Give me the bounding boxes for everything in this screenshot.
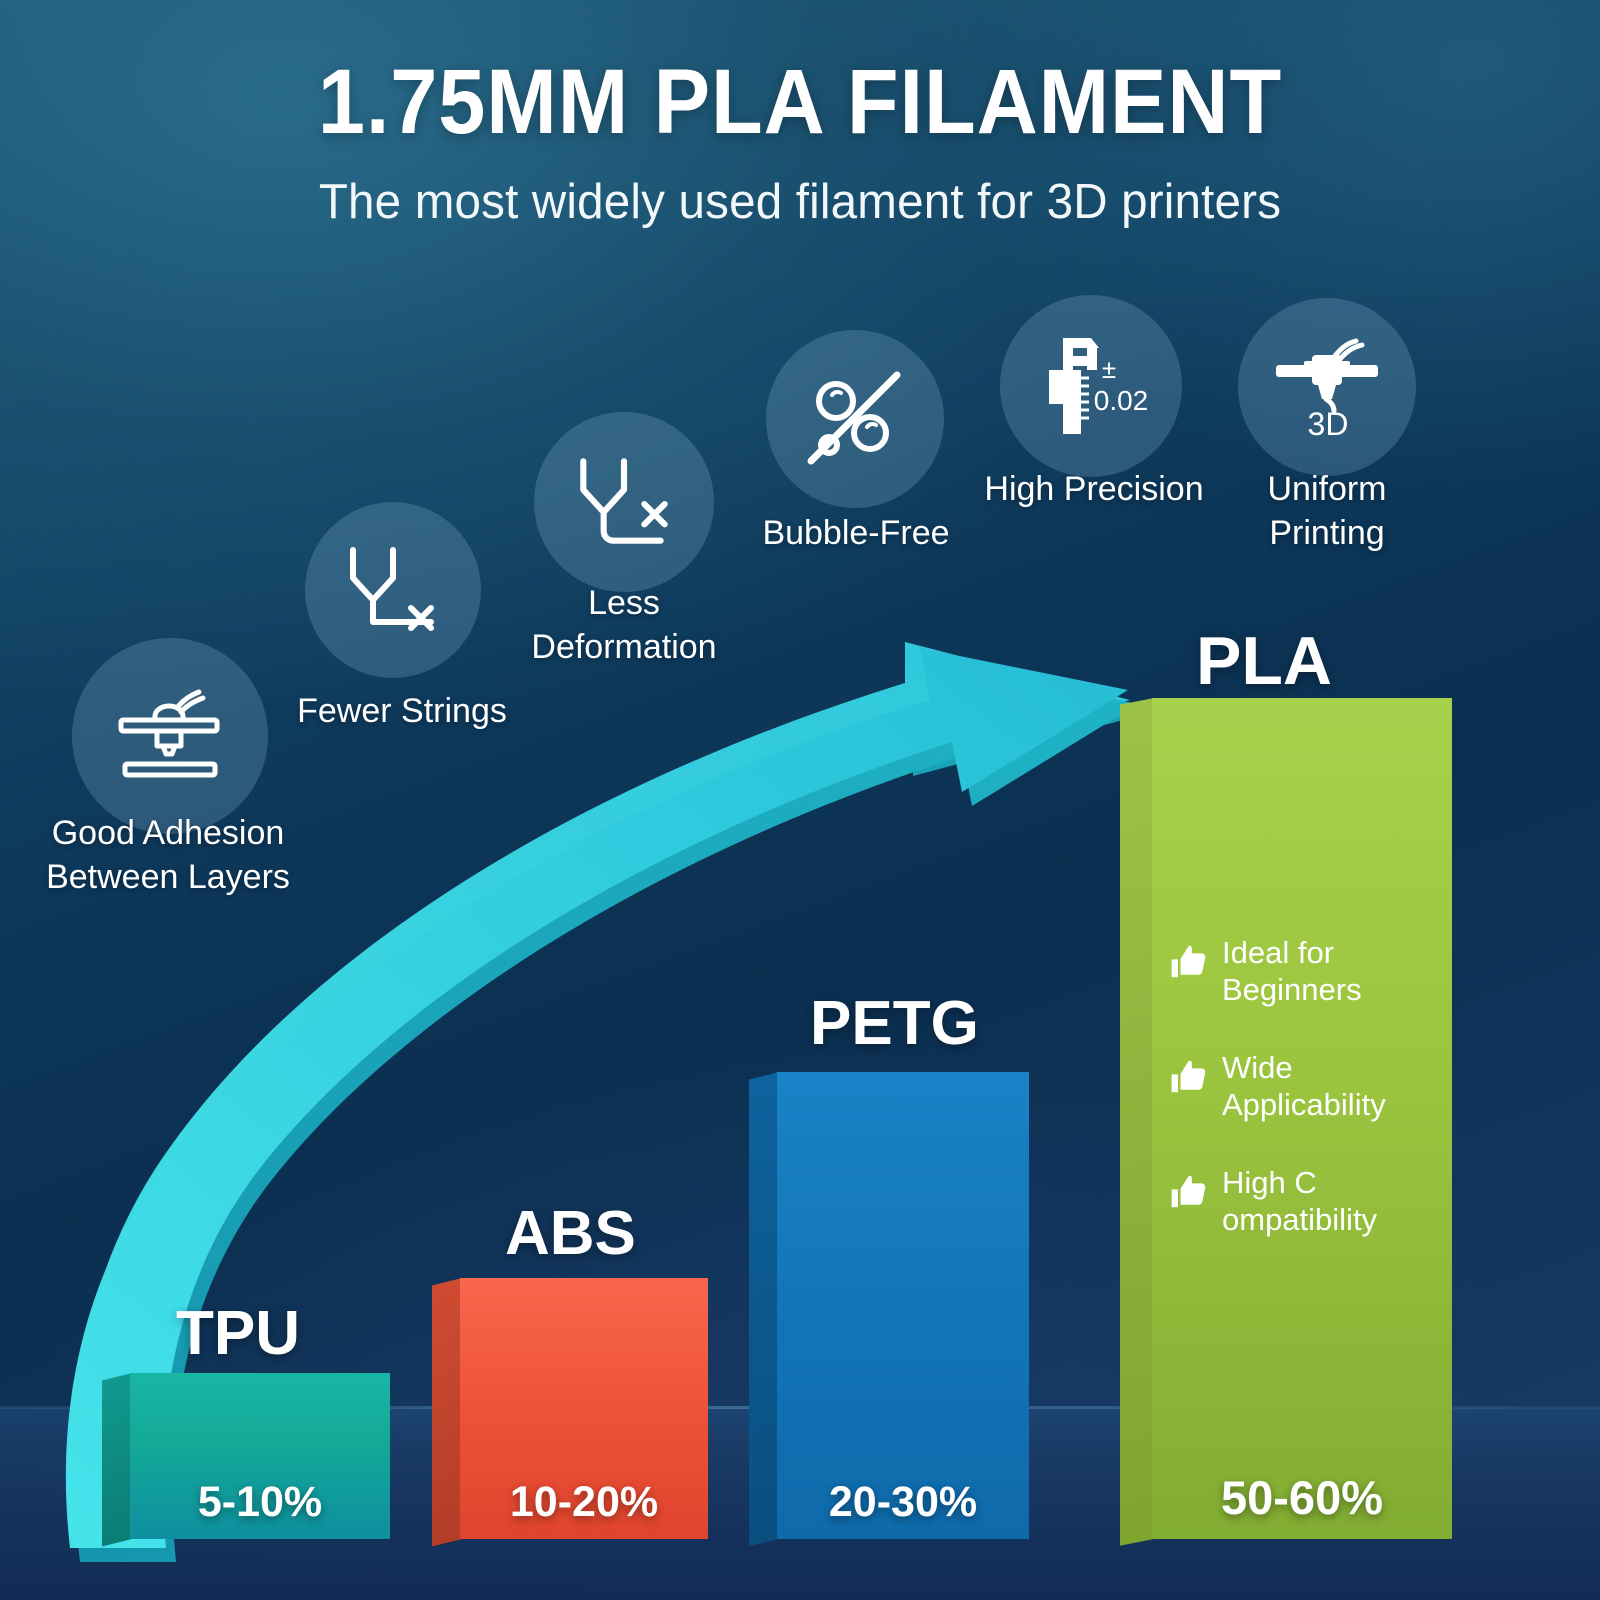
bar-tpu-side — [102, 1373, 132, 1546]
benefit-item: High C ompatibility — [1168, 1165, 1418, 1238]
page-subtitle: The most widely used filament for 3D pri… — [24, 174, 1576, 230]
caliper-value: 0.02 — [1094, 385, 1149, 416]
pla-benefits-list: Ideal for Beginners Wide Applicability H… — [1168, 935, 1418, 1280]
bar-petg-side — [749, 1072, 779, 1546]
bar-value-tpu: 5-10% — [130, 1478, 390, 1527]
benefit-label: Ideal for Beginners — [1222, 935, 1362, 1008]
feature-bubble-fewer-strings[interactable] — [305, 502, 481, 678]
bar-label-petg: PETG — [810, 988, 979, 1059]
feature-label-bubble-free: Bubble-Free — [706, 512, 1006, 556]
bar-value-pla: 50-60% — [1152, 1470, 1452, 1525]
thumbs-up-icon — [1168, 1056, 1212, 1103]
benefit-item: Ideal for Beginners — [1168, 935, 1418, 1008]
page-title: 1.75MM PLA FILAMENT — [64, 56, 1536, 148]
printer-3d-icon: 3D — [1266, 331, 1388, 443]
feature-bubble-less-deformation[interactable] — [534, 412, 714, 592]
header: 1.75MM PLA FILAMENT The most widely used… — [0, 0, 1600, 230]
feature-label-fewer-strings: Fewer Strings — [252, 690, 552, 734]
bar-petg — [777, 1072, 1029, 1539]
caliper-symbol: ± — [1102, 354, 1116, 384]
bar-abs-side — [432, 1278, 462, 1546]
benefit-label: High C ompatibility — [1222, 1165, 1377, 1238]
bar-label-abs: ABS — [505, 1198, 636, 1269]
filament-string-cross-icon — [335, 540, 451, 640]
bar-petg-front — [777, 1072, 1029, 1539]
feature-bubble-good-adhesion[interactable] — [72, 638, 268, 834]
bar-label-pla: PLA — [1196, 622, 1332, 700]
bar-pla-side — [1120, 698, 1154, 1546]
caliper-icon: ± 0.02 — [1029, 330, 1153, 442]
filament-deform-cross-icon — [565, 451, 683, 553]
feature-label-uniform-printing: Uniform Printing — [1182, 468, 1472, 555]
benefit-label: Wide Applicability — [1222, 1050, 1386, 1123]
benefit-item: Wide Applicability — [1168, 1050, 1418, 1123]
feature-bubble-bubble-free[interactable] — [766, 330, 944, 508]
bar-value-petg: 20-30% — [777, 1478, 1029, 1527]
bar-value-abs: 10-20% — [460, 1478, 708, 1527]
bubbles-slash-icon — [799, 363, 911, 475]
printer-extruder-layers-icon — [111, 684, 229, 788]
bar-label-tpu: TPU — [176, 1298, 300, 1369]
thumbs-up-icon — [1168, 941, 1212, 988]
feature-label-good-adhesion: Good Adhesion Between Layers — [18, 812, 318, 899]
feature-label-less-deformation: Less Deformation — [474, 582, 774, 669]
thumbs-up-icon — [1168, 1171, 1212, 1218]
printer-3d-label: 3D — [1308, 406, 1349, 442]
feature-bubble-uniform-printing[interactable]: 3D — [1238, 298, 1416, 476]
feature-bubble-high-precision[interactable]: ± 0.02 — [1000, 295, 1182, 477]
